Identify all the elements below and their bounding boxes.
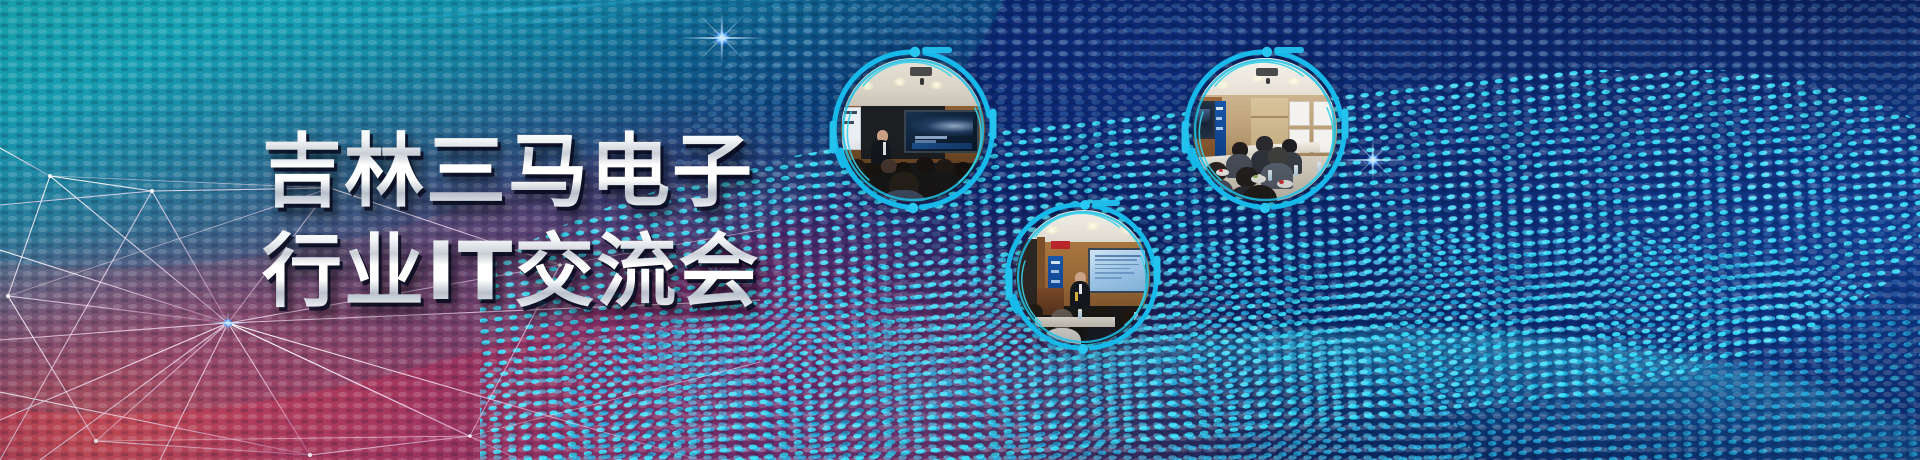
circle-ring-decoration-one [829,46,997,214]
title-line-1: 吉林三马电子 [262,124,760,220]
photo-circle-lecture-hall[interactable] [829,46,997,214]
banner-title: 吉林三马电子 行业IT交流会 [262,124,760,320]
circle-ring-decoration-two [1005,199,1161,355]
promo-banner: 吉林三马电子 行业IT交流会 [0,0,1920,460]
title-line-2: 行业IT交流会 [262,224,760,320]
circle-ring-decoration-three [1181,46,1349,214]
photo-circle-meeting-room[interactable] [1181,46,1349,214]
photo-circle-seminar-room[interactable] [1005,199,1161,355]
